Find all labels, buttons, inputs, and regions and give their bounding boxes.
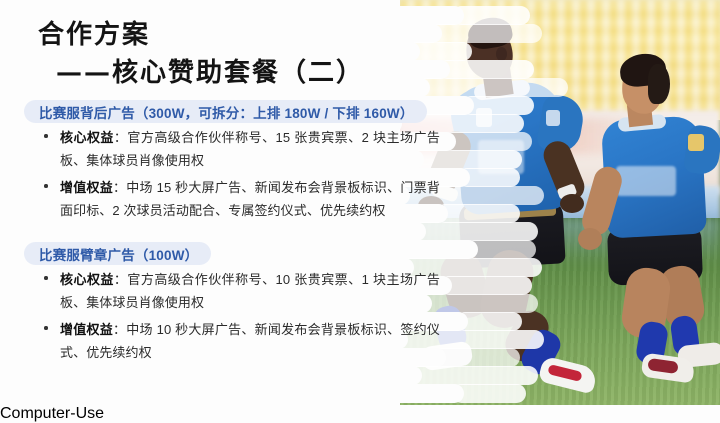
list-item: 核心权益：官方高级合作伙伴称号、15 张贵宾票、2 块主场广告板、集体球员肖像使… <box>40 126 440 174</box>
bullet-label-2: 增值权益 <box>60 180 113 195</box>
player-one-right-hand <box>560 194 584 213</box>
content-pane: 合作方案 ——核心赞助套餐（二） 比赛服背后广告（300W，可拆分：上排 180… <box>0 0 470 405</box>
player-two-hair-side <box>648 64 670 104</box>
bullet-text-4: 增值权益：中场 10 秒大屏广告、新闻发布会背景板标识、签约仪式、优先续约权 <box>60 318 440 364</box>
list-item: 增值权益：中场 10 秒大屏广告、新闻发布会背景板标识、签约仪式、优先续约权 <box>40 318 440 366</box>
slide-root: 合作方案 ——核心赞助套餐（二） 比赛服背后广告（300W，可拆分：上排 180… <box>0 0 720 405</box>
bullet-text-1: 核心权益：官方高级合作伙伴称号、15 张贵宾票、2 块主场广告板、集体球员肖像使… <box>60 126 440 172</box>
bullet-dot-icon <box>44 276 48 280</box>
player-one-ear <box>496 47 507 61</box>
bullet-label-3: 核心权益 <box>60 272 114 287</box>
bullet-text-2: 增值权益：中场 15 秒大屏广告、新闻发布会背景板标识、门票背面印标、2 次球员… <box>60 176 440 222</box>
section-header-1: 比赛服背后广告（300W，可拆分：上排 180W / 下排 160W） <box>24 100 427 123</box>
bullet-dot-icon <box>44 326 48 330</box>
player-one-jersey-sponsor <box>478 140 524 174</box>
section-header-2: 比赛服臂章广告（100W） <box>24 242 211 265</box>
bullet-dot-icon <box>44 184 48 188</box>
bullet-sep-4: ： <box>113 322 126 337</box>
bullet-label-4: 增值权益 <box>60 322 113 337</box>
bullet-label-1: 核心权益 <box>60 130 114 145</box>
player-one-sleeve-patch <box>546 110 560 126</box>
title-line-2: ——核心赞助套餐（二） <box>38 54 458 92</box>
player-two-jersey-sponsor <box>616 166 676 196</box>
list-item: 增值权益：中场 15 秒大屏广告、新闻发布会背景板标识、门票背面印标、2 次球员… <box>40 176 440 224</box>
bullet-text-3: 核心权益：官方高级合作伙伴称号、10 张贵宾票、1 块主场广告板、集体球员肖像使… <box>60 268 440 314</box>
list-item: 核心权益：官方高级合作伙伴称号、10 张贵宾票、1 块主场广告板、集体球员肖像使… <box>40 268 440 316</box>
title-line-1: 合作方案 <box>38 20 150 50</box>
bullet-sep-1: ： <box>114 130 127 145</box>
bullet-dot-icon <box>44 134 48 138</box>
player-two-sleeve-patch <box>688 134 704 151</box>
bullet-sep-3: ： <box>114 272 127 287</box>
bullet-sep-2: ： <box>113 180 126 195</box>
player-one-jersey-badge <box>476 108 492 127</box>
page-title: 合作方案 ——核心赞助套餐（二） <box>38 16 458 92</box>
player-two-hand <box>578 228 602 250</box>
